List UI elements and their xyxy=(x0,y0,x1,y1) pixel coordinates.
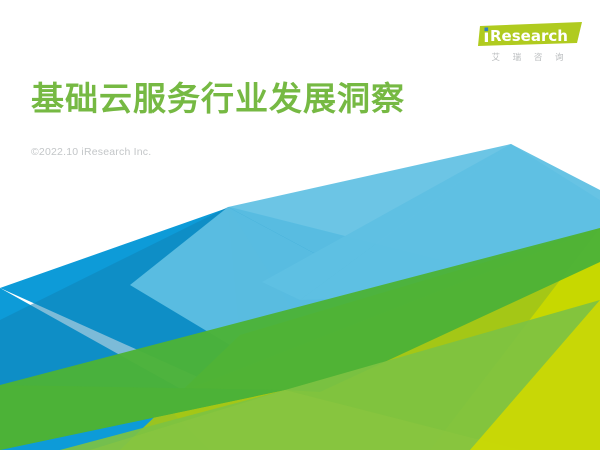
logo-i-dot xyxy=(485,28,489,32)
copyright-notice: ©2022.10 iResearch Inc. xyxy=(31,146,151,158)
logo-chinese-subtitle: 艾 瑞 咨 询 xyxy=(482,51,578,63)
iresearch-logo: Research 艾 瑞 咨 询 xyxy=(478,22,582,68)
logo-wordmark-text: Research xyxy=(490,27,568,45)
page-title: 基础云服务行业发展洞察 xyxy=(31,72,405,120)
logo-i-stem xyxy=(485,33,488,43)
report-cover-slide: Research 艾 瑞 咨 询 基础云服务行业发展洞察 ©2022.10 iR… xyxy=(0,0,600,450)
